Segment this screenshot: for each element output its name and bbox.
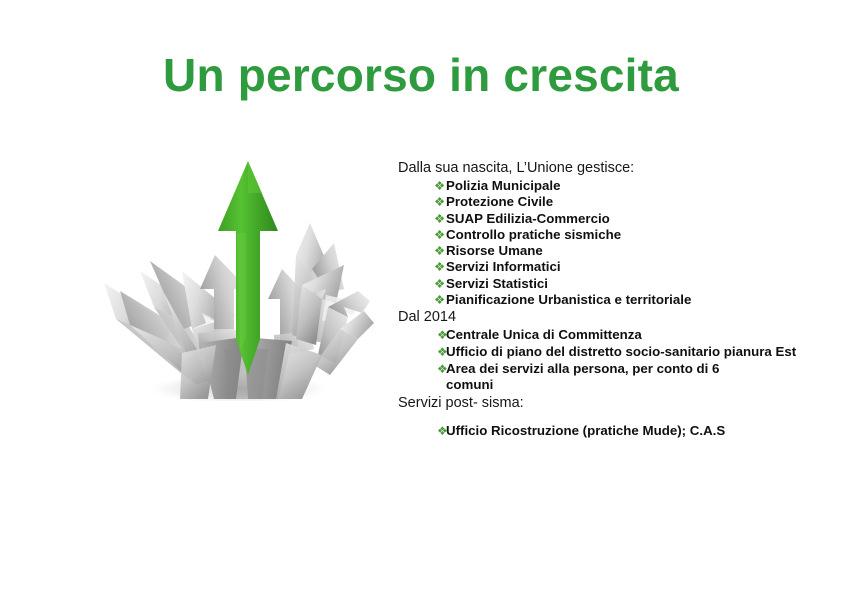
list-item-label: Ufficio Ricostruzione (pratiche Mude); C… (446, 423, 725, 438)
list-item: ❖ Area dei servizi alla persona, per con… (398, 361, 770, 394)
diamond-bullet-icon: ❖ (437, 423, 448, 439)
list-item: ❖ Protezione Civile (398, 194, 770, 210)
intro-line-services: Dalla sua nascita, L’Unione gestisce: (398, 159, 770, 178)
list-item: ❖ Ufficio Ricostruzione (pratiche Mude);… (398, 423, 770, 440)
growth-arrows-illustration (96, 143, 378, 401)
list-item: ❖ Centrale Unica di Committenza (398, 327, 770, 344)
list-item-label: Protezione Civile (446, 194, 553, 209)
diamond-bullet-icon: ❖ (437, 361, 448, 377)
list-item-label: Risorse Umane (446, 243, 543, 258)
diamond-bullet-icon: ❖ (434, 292, 445, 308)
diamond-bullet-icon: ❖ (437, 327, 448, 343)
diamond-bullet-icon: ❖ (437, 344, 448, 360)
slide-canvas: Un percorso in crescita (0, 0, 842, 595)
diamond-bullet-icon: ❖ (434, 194, 445, 210)
content-text-column: Dalla sua nascita, L’Unione gestisce: ❖ … (398, 159, 770, 439)
diamond-bullet-icon: ❖ (434, 276, 445, 292)
list-item: ❖ Servizi Statistici (398, 276, 770, 292)
list-item-label: Pianificazione Urbanistica e territorial… (446, 292, 691, 307)
diamond-bullet-icon: ❖ (434, 227, 445, 243)
spacer (398, 413, 770, 423)
list-item: ❖ Controllo pratiche sismiche (398, 227, 770, 243)
diamond-bullet-icon: ❖ (434, 211, 445, 227)
list-item: ❖ Servizi Informatici (398, 259, 770, 275)
services-2014-list: ❖ Centrale Unica di Committenza ❖ Uffici… (398, 327, 770, 393)
services-post-sisma-list: ❖ Ufficio Ricostruzione (pratiche Mude);… (398, 423, 770, 440)
list-item-label: Controllo pratiche sismiche (446, 227, 621, 242)
diamond-bullet-icon: ❖ (434, 259, 445, 275)
diamond-bullet-icon: ❖ (434, 178, 445, 194)
list-item-label: Servizi Statistici (446, 276, 548, 291)
list-item: ❖ Pianificazione Urbanistica e territori… (398, 292, 770, 308)
list-item: ❖ Ufficio di piano del distretto socio-s… (398, 344, 798, 361)
list-item: ❖ SUAP Edilizia-Commercio (398, 211, 770, 227)
list-item-label: Ufficio di piano del distretto socio-san… (446, 344, 796, 359)
list-item-label: Area dei servizi alla persona, per conto… (446, 361, 719, 393)
list-item-label: Servizi Informatici (446, 259, 561, 274)
list-item: ❖ Polizia Municipale (398, 178, 770, 194)
intro-line-post-sisma: Servizi post- sisma: (398, 394, 770, 413)
list-item-label: Polizia Municipale (446, 178, 561, 193)
list-item-label: SUAP Edilizia-Commercio (446, 211, 610, 226)
list-item: ❖ Risorse Umane (398, 243, 770, 259)
diamond-bullet-icon: ❖ (434, 243, 445, 259)
list-item-label: Centrale Unica di Committenza (446, 327, 642, 342)
page-title: Un percorso in crescita (0, 46, 842, 104)
intro-line-dal-2014: Dal 2014 (398, 308, 770, 327)
services-list: ❖ Polizia Municipale ❖ Protezione Civile… (398, 178, 770, 308)
